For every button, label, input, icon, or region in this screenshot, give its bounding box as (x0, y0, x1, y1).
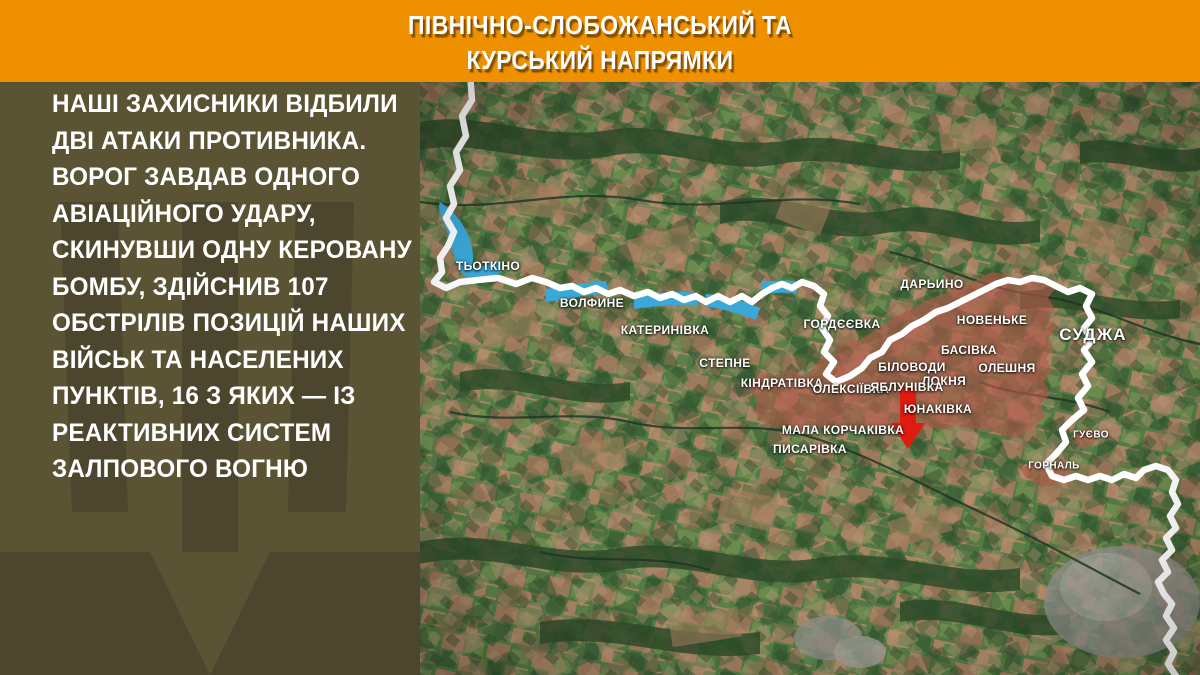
map-canvas (420, 82, 1200, 675)
summary-text: НАШІ ЗАХИСНИКИ ВІДБИЛИ ДВІ АТАКИ ПРОТИВН… (52, 86, 412, 488)
summary-line: НАШІ ЗАХИСНИКИ ВІДБИЛИ (52, 86, 401, 123)
summary-line: ПУНКТІВ, 16 З ЯКИХ — ІЗ (52, 378, 401, 415)
summary-line: ДВІ АТАКИ ПРОТИВНИКА. (52, 123, 401, 160)
summary-panel: НАШІ ЗАХИСНИКИ ВІДБИЛИ ДВІ АТАКИ ПРОТИВН… (0, 82, 420, 675)
summary-line: ОБСТРІЛІВ ПОЗИЦІЙ НАШИХ (52, 305, 401, 342)
summary-line: РЕАКТИВНИХ СИСТЕМ (52, 415, 401, 452)
infographic-root: ПІВНІЧНО-СЛОБОЖАНСЬКИЙ ТА КУРСЬКИЙ НАПРЯ… (0, 0, 1200, 675)
header-title-line-1: ПІВНІЧНО-СЛОБОЖАНСЬКИЙ ТА (72, 11, 1128, 40)
summary-line: ВОРОГ ЗАВДАВ ОДНОГО (52, 159, 401, 196)
satellite-map[interactable]: ТЬОТКІНОВОЛФИНЕКАТЕРИНІВКАСТЕПНЕКІНДРАТІ… (420, 82, 1200, 675)
summary-line: АВІАЦІЙНОГО УДАРУ, (52, 196, 401, 233)
header-banner: ПІВНІЧНО-СЛОБОЖАНСЬКИЙ ТА КУРСЬКИЙ НАПРЯ… (0, 0, 1200, 82)
header-title-line-2: КУРСЬКИЙ НАПРЯМКИ (72, 46, 1128, 75)
summary-line: БОМБУ, ЗДІЙСНИВ 107 (52, 269, 401, 306)
summary-line: ЗАЛПОВОГО ВОГНЮ (52, 451, 401, 488)
summary-line: СКИНУВШИ ОДНУ КЕРОВАНУ (52, 232, 401, 269)
summary-line: ВІЙСЬК ТА НАСЕЛЕНИХ (52, 342, 401, 379)
